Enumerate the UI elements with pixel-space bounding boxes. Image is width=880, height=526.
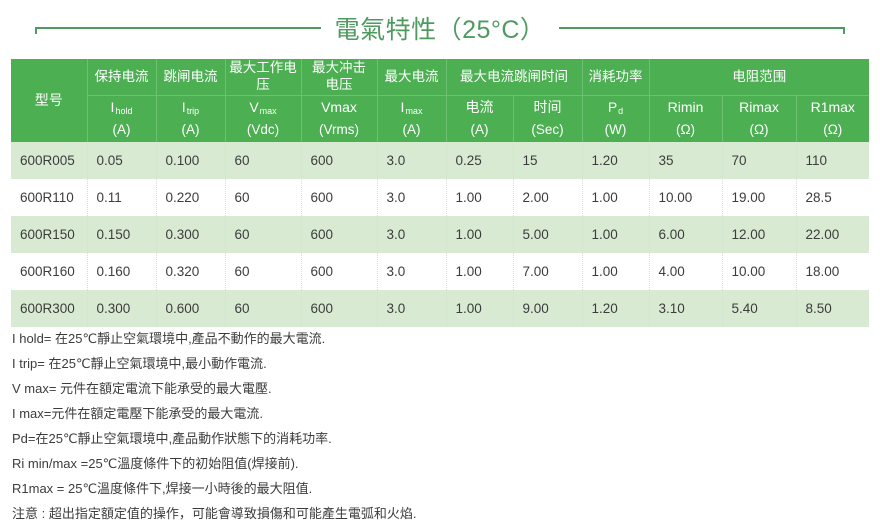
cell-ihold: 0.05 (87, 142, 156, 179)
cell-vmax: 60 (225, 253, 301, 290)
th-sym-imax: Imax (377, 96, 446, 120)
cell-vsurge: 600 (301, 253, 377, 290)
cell-vsurge: 600 (301, 179, 377, 216)
th-sym-trip-time: 时间 (513, 96, 582, 120)
cell-trip-time: 15 (513, 142, 582, 179)
header-row-group: 型号 保持电流 跳闸电流 最大工作电压 最大冲击 电压 最大电流 最大电流跳闸时… (11, 59, 869, 96)
table-head: 型号 保持电流 跳闸电流 最大工作电压 最大冲击 电压 最大电流 最大电流跳闸时… (11, 59, 869, 142)
cell-trip-time: 7.00 (513, 253, 582, 290)
th-sym-rimin: Rimin (649, 96, 722, 120)
cell-vmax: 60 (225, 142, 301, 179)
cell-pd: 1.00 (582, 179, 649, 216)
th-unit-trip-time: (Sec) (513, 119, 582, 142)
cell-ihold: 0.150 (87, 216, 156, 253)
cell-itrip: 0.100 (156, 142, 225, 179)
cell-ihold: 0.160 (87, 253, 156, 290)
th-sym-rimax: Rimax (722, 96, 796, 120)
cell-ihold: 0.11 (87, 179, 156, 216)
th-unit-trip-current: (A) (446, 119, 513, 142)
cell-rimax: 19.00 (722, 179, 796, 216)
cell-pd: 1.00 (582, 253, 649, 290)
th-max-surge-voltage-line1: 最大冲击 (312, 60, 366, 75)
cell-r1max: 8.50 (796, 290, 869, 327)
cell-r1max: 22.00 (796, 216, 869, 253)
notes-block: I hold= 在25℃靜止空氣環境中,產品不動作的最大電流. I trip= … (12, 326, 868, 526)
cell-vmax: 60 (225, 290, 301, 327)
th-sym-vsurge: Vmax (301, 96, 377, 120)
cell-rimax: 5.40 (722, 290, 796, 327)
note-r1max: R1max = 25℃溫度條件下,焊接一小時後的最大阻值. (12, 476, 868, 501)
cell-r1max: 110 (796, 142, 869, 179)
note-ri: Ri min/max =25℃溫度條件下的初始阻值(焊接前). (12, 451, 868, 476)
cell-rimin: 35 (649, 142, 722, 179)
th-max-working-voltage: 最大工作电压 (225, 59, 301, 96)
cell-vsurge: 600 (301, 142, 377, 179)
cell-rimin: 3.10 (649, 290, 722, 327)
cell-trip-current: 1.00 (446, 253, 513, 290)
th-max-current: 最大电流 (377, 59, 446, 96)
cell-trip-current: 0.25 (446, 142, 513, 179)
cell-vmax: 60 (225, 179, 301, 216)
table-row: 600R160 0.160 0.320 60 600 3.0 1.00 7.00… (11, 253, 869, 290)
cell-imax: 3.0 (377, 253, 446, 290)
cell-itrip: 0.320 (156, 253, 225, 290)
cell-vsurge: 600 (301, 216, 377, 253)
th-max-surge-voltage-line2: 电压 (326, 77, 353, 92)
cell-rimin: 6.00 (649, 216, 722, 253)
th-sym-trip-current: 电流 (446, 96, 513, 120)
electrical-characteristics-table: 型号 保持电流 跳闸电流 最大工作电压 最大冲击 电压 最大电流 最大电流跳闸时… (11, 59, 869, 327)
cell-rimin: 4.00 (649, 253, 722, 290)
cell-itrip: 0.300 (156, 216, 225, 253)
th-max-current-trip-time: 最大电流跳闸时间 (446, 59, 582, 96)
cell-itrip: 0.600 (156, 290, 225, 327)
page-title: 電氣特性（25°C） (335, 10, 546, 46)
cell-trip-time: 9.00 (513, 290, 582, 327)
note-warning: 注意 : 超出指定額定值的操作，可能會導致損傷和可能產生電弧和火焰. (12, 501, 868, 526)
cell-rimax: 10.00 (722, 253, 796, 290)
th-sym-vmax: Vmax (225, 96, 301, 120)
cell-rimax: 12.00 (722, 216, 796, 253)
th-unit-rimax: (Ω) (722, 119, 796, 142)
th-unit-itrip: (A) (156, 119, 225, 142)
cell-imax: 3.0 (377, 216, 446, 253)
note-imax: I max=元件在額定電壓下能承受的最大電流. (12, 401, 868, 426)
th-trip-current: 跳闸电流 (156, 59, 225, 96)
th-hold-current: 保持电流 (87, 59, 156, 96)
cell-trip-current: 1.00 (446, 179, 513, 216)
th-model: 型号 (11, 59, 87, 142)
cell-model: 600R160 (11, 253, 87, 290)
cell-model: 600R300 (11, 290, 87, 327)
table-row: 600R150 0.150 0.300 60 600 3.0 1.00 5.00… (11, 216, 869, 253)
cell-trip-time: 5.00 (513, 216, 582, 253)
th-unit-r1max: (Ω) (796, 119, 869, 142)
cell-trip-current: 1.00 (446, 216, 513, 253)
title-rule-left (35, 27, 321, 29)
cell-pd: 1.20 (582, 142, 649, 179)
th-unit-ihold: (A) (87, 119, 156, 142)
table-body: 600R005 0.05 0.100 60 600 3.0 0.25 15 1.… (11, 142, 869, 327)
cell-imax: 3.0 (377, 142, 446, 179)
cell-itrip: 0.220 (156, 179, 225, 216)
cell-imax: 3.0 (377, 290, 446, 327)
th-power-dissipation: 消耗功率 (582, 59, 649, 96)
note-itrip: I trip= 在25℃靜止空氣環境中,最小動作電流. (12, 351, 868, 376)
table-row: 600R005 0.05 0.100 60 600 3.0 0.25 15 1.… (11, 142, 869, 179)
cell-rimin: 10.00 (649, 179, 722, 216)
th-unit-vmax: (Vdc) (225, 119, 301, 142)
th-sym-ihold: Ihold (87, 96, 156, 120)
page-title-row: 電氣特性（25°C） (0, 8, 880, 48)
cell-rimax: 70 (722, 142, 796, 179)
cell-vsurge: 600 (301, 290, 377, 327)
th-sym-itrip: Itrip (156, 96, 225, 120)
datasheet-page: 電氣特性（25°C） 型号 保持电流 (0, 0, 880, 519)
cell-ihold: 0.300 (87, 290, 156, 327)
cell-pd: 1.20 (582, 290, 649, 327)
th-unit-pd: (W) (582, 119, 649, 142)
note-pd: Pd=在25℃靜止空氣環境中,產品動作狀態下的消耗功率. (12, 426, 868, 451)
table-row: 600R110 0.11 0.220 60 600 3.0 1.00 2.00 … (11, 179, 869, 216)
title-rule-right (559, 27, 845, 29)
cell-model: 600R110 (11, 179, 87, 216)
th-unit-rimin: (Ω) (649, 119, 722, 142)
cell-imax: 3.0 (377, 179, 446, 216)
note-ihold: I hold= 在25℃靜止空氣環境中,產品不動作的最大電流. (12, 326, 868, 351)
cell-model: 600R005 (11, 142, 87, 179)
cell-vmax: 60 (225, 216, 301, 253)
th-unit-vsurge: (Vrms) (301, 119, 377, 142)
spec-table-wrapper: 型号 保持电流 跳闸电流 最大工作电压 最大冲击 电压 最大电流 最大电流跳闸时… (11, 59, 869, 327)
cell-model: 600R150 (11, 216, 87, 253)
th-resistance-range: 电阻范围 (649, 59, 869, 96)
th-sym-pd: Pd (582, 96, 649, 120)
cell-pd: 1.00 (582, 216, 649, 253)
table-row: 600R300 0.300 0.600 60 600 3.0 1.00 9.00… (11, 290, 869, 327)
header-row-symbols: Ihold Itrip Vmax Vmax Imax 电流 时间 Pd Rimi… (11, 96, 869, 120)
note-vmax: V max= 元件在額定電流下能承受的最大電壓. (12, 376, 868, 401)
cell-trip-time: 2.00 (513, 179, 582, 216)
cell-trip-current: 1.00 (446, 290, 513, 327)
cell-r1max: 28.5 (796, 179, 869, 216)
th-unit-imax: (A) (377, 119, 446, 142)
cell-r1max: 18.00 (796, 253, 869, 290)
th-sym-r1max: R1max (796, 96, 869, 120)
header-row-units: (A) (A) (Vdc) (Vrms) (A) (A) (Sec) (W) (… (11, 119, 869, 142)
th-max-surge-voltage: 最大冲击 电压 (301, 59, 377, 96)
